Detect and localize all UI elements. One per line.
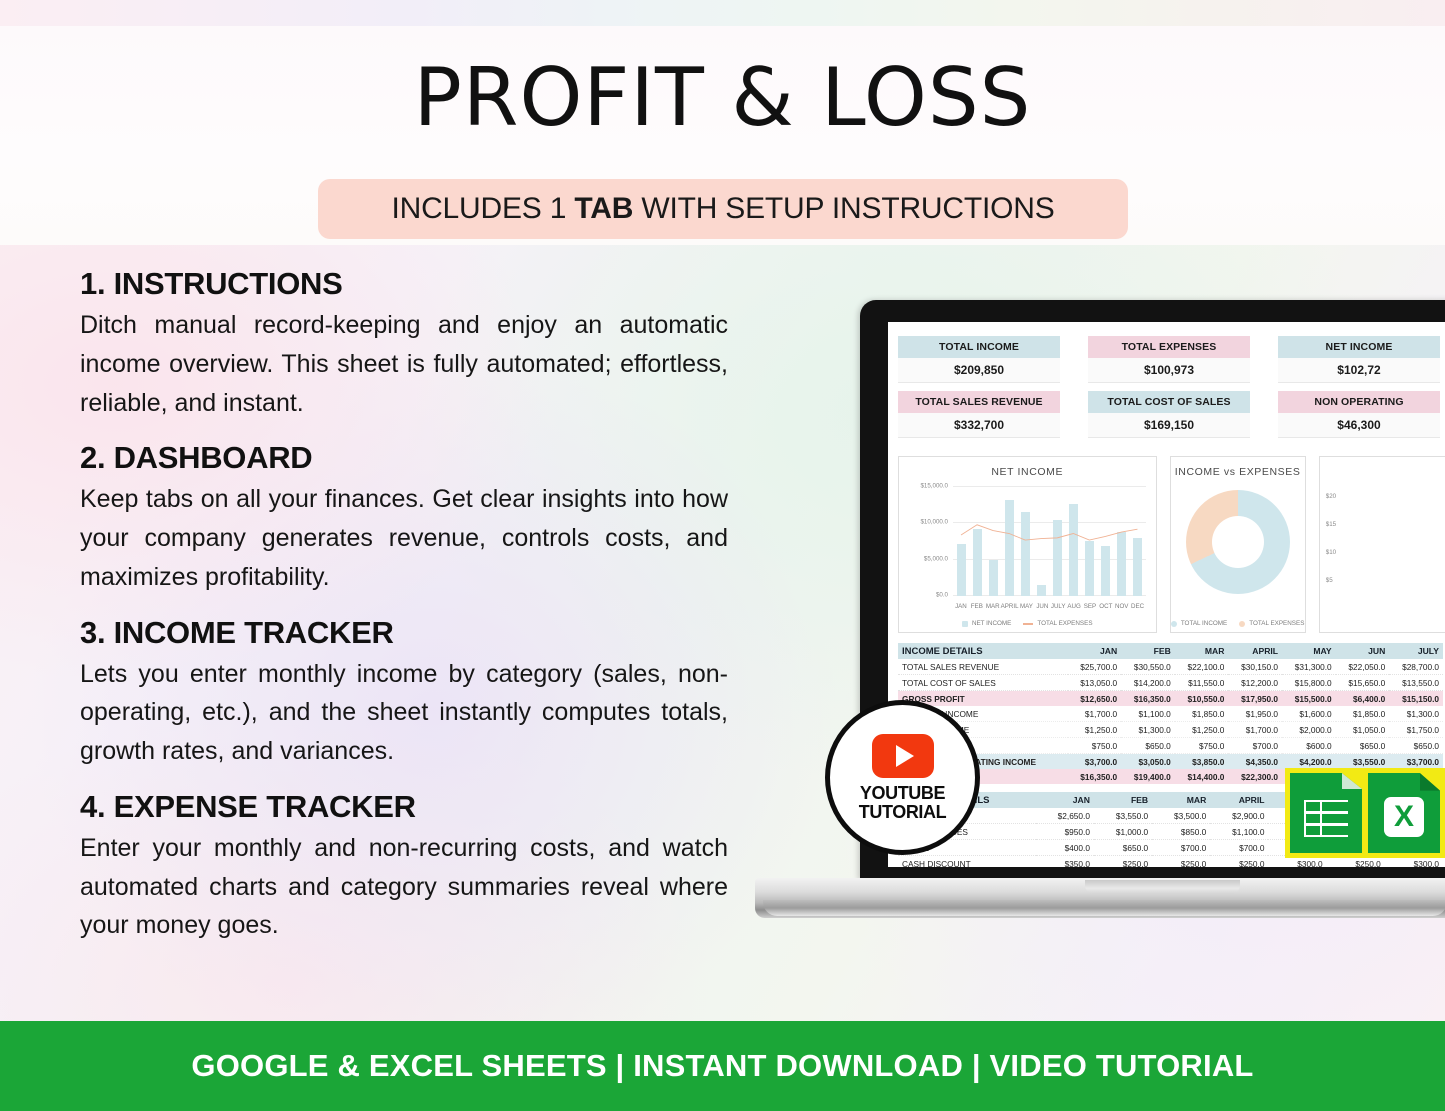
table-cell: $3,050.0: [1121, 754, 1175, 770]
table-cell: $400.0: [1036, 840, 1094, 856]
kpi-card-total-sales-revenue: TOTAL SALES REVENUE $332,700: [898, 391, 1060, 438]
table-row: TOTAL COST OF SALES$13,050.0$14,200.0$11…: [898, 675, 1443, 691]
sheets-grid-cell: [1306, 826, 1319, 835]
youtube-play-icon: [872, 734, 934, 778]
kpi-label: TOTAL COST OF SALES: [1088, 391, 1250, 413]
table-header-cell: MAR: [1175, 643, 1229, 659]
youtube-badge-text: YOUTUBE TUTORIAL: [859, 784, 946, 822]
table-cell: $350.0: [1036, 856, 1094, 868]
section-heading: 1. INSTRUCTIONS: [80, 266, 728, 302]
table-cell: $22,050.0: [1336, 659, 1390, 675]
chart-title: INCOME vs EXPENSES: [1171, 466, 1305, 478]
chart-net-income: NET INCOME $0.0$5,000.0$10,000.0$15,000.…: [898, 456, 1157, 633]
table-header-cell: MAR: [1152, 792, 1210, 808]
chart-x-tick: MAY: [1019, 603, 1035, 610]
table-row: RENTAL INCOME$1,250.0$1,300.0$1,250.0$1,…: [898, 722, 1443, 738]
table-header-cell: FEB: [1121, 643, 1175, 659]
chart-y-tick: $5,000.0: [924, 555, 948, 562]
chart-title: NET INCOME: [899, 466, 1156, 478]
kpi-card-non-operating: NON OPERATING $46,300: [1278, 391, 1440, 438]
table-cell: $750.0: [1068, 738, 1122, 754]
table-cell: $22,300.0: [1228, 769, 1282, 784]
table-cell: $31,300.0: [1282, 659, 1336, 675]
table-header-cell: JULY: [1389, 643, 1443, 659]
legend-label: NET INCOME: [972, 620, 1011, 627]
excel-letter-icon: X: [1384, 797, 1424, 837]
table-cell: $28,700.0: [1389, 659, 1443, 675]
feature-section-income-tracker: 3. INCOME TRACKER Lets you enter monthly…: [80, 615, 728, 771]
footer-text: GOOGLE & EXCEL SHEETS | INSTANT DOWNLOAD…: [191, 1048, 1253, 1084]
table-cell: $1,850.0: [1175, 706, 1229, 722]
subtitle-text: INCLUDES 1 TAB WITH SETUP INSTRUCTIONS: [391, 192, 1054, 226]
table-cell: $3,550.0: [1094, 808, 1152, 824]
legend-label: TOTAL EXPENSES: [1249, 620, 1304, 627]
page-title: PROFIT & LOSS: [0, 58, 1445, 138]
kpi-value: $169,150: [1088, 413, 1250, 438]
chart-y-tick: $0.0: [936, 592, 948, 599]
legend-swatch-icon: [1239, 621, 1245, 627]
kpi-value: $332,700: [898, 413, 1060, 438]
table-cell: $700.0: [1152, 840, 1210, 856]
subtitle-suffix: WITH SETUP INSTRUCTIONS: [633, 192, 1054, 225]
income-details-table: INCOME DETAILSJANFEBMARAPRILMAYJUNJULY T…: [898, 643, 1443, 784]
table-cell: $6,400.0: [1336, 691, 1390, 707]
table-cell: $15,150.0: [1389, 691, 1443, 707]
table-header-cell: JUN: [1336, 643, 1390, 659]
chart-x-axis-labels: JANFEBMARAPRILMAYJUNJULYAUGSEPOCTNOVDEC: [953, 603, 1146, 610]
kpi-value: $102,72: [1278, 358, 1440, 383]
section-body: Ditch manual record-keeping and enjoy an…: [80, 306, 728, 422]
table-cell: $19,400.0: [1121, 769, 1175, 784]
table-cell: TOTAL COST OF SALES: [898, 675, 1068, 691]
table-cell: CASH DISCOUNT: [898, 856, 1036, 868]
legend-label: TOTAL EXPENSES: [1037, 620, 1092, 627]
table-cell: $16,350.0: [1121, 691, 1175, 707]
kpi-card-total-income: TOTAL INCOME $209,850: [898, 336, 1060, 383]
table-cell: $11,550.0: [1175, 675, 1229, 691]
subtitle-prefix: INCLUDES 1: [391, 192, 574, 225]
feature-section-dashboard: 2. DASHBOARD Keep tabs on all your finan…: [80, 440, 728, 596]
legend-label: TOTAL INCOME: [1181, 620, 1227, 627]
sheets-grid-cell: [1322, 814, 1348, 823]
play-triangle-icon: [896, 745, 914, 767]
sheets-grid-icon: [1304, 800, 1347, 837]
table-cell: $10,550.0: [1175, 691, 1229, 707]
table-header-cell: JAN: [1036, 792, 1094, 808]
legend-line-icon: [1023, 623, 1033, 625]
kpi-card-total-cost-of-sales: TOTAL COST OF SALES $169,150: [1088, 391, 1250, 438]
table-cell: $1,950.0: [1228, 706, 1282, 722]
kpi-value: $100,973: [1088, 358, 1250, 383]
table-cell: $650.0: [1336, 738, 1390, 754]
table-cell: $30,550.0: [1121, 659, 1175, 675]
legend-item-net-income: NET INCOME: [962, 620, 1011, 627]
chart-x-tick: SEP: [1082, 603, 1098, 610]
table-row: TOTAL NON OPERATING INCOME$3,700.0$3,050…: [898, 754, 1443, 770]
feature-section-expense-tracker: 4. EXPENSE TRACKER Enter your monthly an…: [80, 789, 728, 945]
chart-legend: NET INCOME TOTAL EXPENSES: [899, 620, 1156, 627]
kpi-card-total-expenses: TOTAL EXPENSES $100,973: [1088, 336, 1250, 383]
table-cell: $1,300.0: [1389, 706, 1443, 722]
chart-x-tick: JULY: [1050, 603, 1066, 610]
table-header-cell: APRIL: [1210, 792, 1268, 808]
table-row: GROSS PROFIT$12,650.0$16,350.0$10,550.0$…: [898, 691, 1443, 707]
kpi-label: TOTAL EXPENSES: [1088, 336, 1250, 358]
section-body: Enter your monthly and non-recurring cos…: [80, 829, 728, 945]
table-header-cell: INCOME DETAILS: [898, 643, 1068, 659]
table-cell: $15,500.0: [1282, 691, 1336, 707]
kpi-label: NON OPERATING: [1278, 391, 1440, 413]
table-cell: $13,050.0: [1068, 675, 1122, 691]
table-cell: $12,650.0: [1068, 691, 1122, 707]
legend-item-total-expenses: TOTAL EXPENSES: [1239, 620, 1304, 627]
youtube-badge-line1: YOUTUBE: [859, 784, 946, 803]
feature-list: 1. INSTRUCTIONS Ditch manual record-keep…: [80, 266, 728, 957]
table-cell: $700.0: [1210, 840, 1268, 856]
kpi-grid: TOTAL INCOME $209,850 TOTAL SALES REVENU…: [898, 336, 1445, 446]
table-cell: $650.0: [1389, 738, 1443, 754]
table-cell: $250.0: [1210, 856, 1268, 868]
chart-x-tick: OCT: [1098, 603, 1114, 610]
table-body: TOTAL SALES REVENUE$25,700.0$30,550.0$22…: [898, 659, 1443, 784]
chart-x-tick: JAN: [953, 603, 969, 610]
table-cell: $600.0: [1282, 738, 1336, 754]
table-cell: $1,100.0: [1210, 824, 1268, 840]
chart-y-tick: $15,000.0: [920, 483, 948, 490]
kpi-column-3: NET INCOME $102,72 NON OPERATING $46,300: [1278, 336, 1440, 446]
youtube-tutorial-badge[interactable]: YOUTUBE TUTORIAL: [825, 700, 980, 855]
table-cell: $3,700.0: [1068, 754, 1122, 770]
table-cell: $14,400.0: [1175, 769, 1229, 784]
table-cell: $1,300.0: [1121, 722, 1175, 738]
legend-swatch-icon: [1171, 621, 1177, 627]
chart-x-tick: FEB: [969, 603, 985, 610]
section-heading: 3. INCOME TRACKER: [80, 615, 728, 651]
kpi-column-2: TOTAL EXPENSES $100,973 TOTAL COST OF SA…: [1088, 336, 1250, 446]
chart-x-tick: MAR: [985, 603, 1001, 610]
table-row: OTHER INCOME$750.0$650.0$750.0$700.0$600…: [898, 738, 1443, 754]
table-header-cell: MAY: [1282, 643, 1336, 659]
table-cell: $2,650.0: [1036, 808, 1094, 824]
table-cell: $3,700.0: [1389, 754, 1443, 770]
table-cell: $30,150.0: [1228, 659, 1282, 675]
chart-x-tick: NOV: [1114, 603, 1130, 610]
table-cell: $650.0: [1094, 840, 1152, 856]
table-cell: TOTAL SALES REVENUE: [898, 659, 1068, 675]
excel-fold-corner-icon: [1420, 773, 1440, 791]
kpi-value: $46,300: [1278, 413, 1440, 438]
kpi-column-1: TOTAL INCOME $209,850 TOTAL SALES REVENU…: [898, 336, 1060, 446]
app-icons-group: X: [1285, 768, 1445, 858]
table-cell: $750.0: [1175, 738, 1229, 754]
table-cell: $1,850.0: [1336, 706, 1390, 722]
chart-third-cropped: $20$15$10$5: [1319, 456, 1445, 633]
table-row: TOTAL SALES REVENUE$25,700.0$30,550.0$22…: [898, 659, 1443, 675]
table-cell: $1,250.0: [1068, 722, 1122, 738]
table-cell: $2,900.0: [1210, 808, 1268, 824]
laptop-base-edge: [763, 900, 1445, 916]
chart-y-tick: $15: [1326, 521, 1336, 528]
table-cell: $15,800.0: [1282, 675, 1336, 691]
table-row: INTEREST INCOME$1,700.0$1,100.0$1,850.0$…: [898, 706, 1443, 722]
sheets-grid-cell: [1322, 802, 1348, 811]
table-cell: $15,650.0: [1336, 675, 1390, 691]
table-cell: $17,950.0: [1228, 691, 1282, 707]
chart-x-tick: APRIL: [1001, 603, 1019, 610]
table-cell: $13,550.0: [1389, 675, 1443, 691]
kpi-card-net-income: NET INCOME $102,72: [1278, 336, 1440, 383]
excel-icon: X: [1368, 773, 1440, 853]
table-cell: $3,500.0: [1152, 808, 1210, 824]
kpi-label: NET INCOME: [1278, 336, 1440, 358]
table-header-cell: APRIL: [1228, 643, 1282, 659]
table-cell: $3,850.0: [1175, 754, 1229, 770]
sheets-grid-cell: [1306, 814, 1319, 823]
table-cell: $1,700.0: [1228, 722, 1282, 738]
google-sheets-icon: [1290, 773, 1362, 853]
section-body: Lets you enter monthly income by categor…: [80, 655, 728, 771]
table-header-row: INCOME DETAILSJANFEBMARAPRILMAYJUNJULY: [898, 643, 1443, 659]
table-cell: $1,700.0: [1068, 706, 1122, 722]
footer-banner: GOOGLE & EXCEL SHEETS | INSTANT DOWNLOAD…: [0, 1021, 1445, 1111]
table-cell: $1,000.0: [1094, 824, 1152, 840]
section-body: Keep tabs on all your finances. Get clea…: [80, 480, 728, 596]
kpi-value: $209,850: [898, 358, 1060, 383]
legend-swatch-icon: [962, 621, 968, 627]
kpi-label: TOTAL SALES REVENUE: [898, 391, 1060, 413]
table-cell: $250.0: [1152, 856, 1210, 868]
chart-y-axis-labels: $20$15$10$5: [1326, 493, 1336, 605]
donut-wrapper: [1171, 483, 1305, 601]
subtitle-banner: INCLUDES 1 TAB WITH SETUP INSTRUCTIONS: [318, 179, 1128, 239]
table-header-cell: FEB: [1094, 792, 1152, 808]
table-cell: $16,350.0: [1068, 769, 1122, 784]
table-cell: $1,250.0: [1175, 722, 1229, 738]
legend-item-total-expenses: TOTAL EXPENSES: [1023, 620, 1092, 627]
table-cell: $1,750.0: [1389, 722, 1443, 738]
chart-y-tick: $10: [1326, 549, 1336, 556]
chart-income-vs-expenses: INCOME vs EXPENSES TOTAL INCOME TOTAL EX…: [1170, 456, 1306, 633]
section-heading: 2. DASHBOARD: [80, 440, 728, 476]
sheets-fold-corner-icon: [1342, 773, 1362, 789]
table-cell: $700.0: [1228, 738, 1282, 754]
table-cell: $1,100.0: [1121, 706, 1175, 722]
legend-item-total-income: TOTAL INCOME: [1171, 620, 1227, 627]
sheets-grid-cell: [1306, 802, 1319, 811]
chart-line-series: [953, 487, 1146, 596]
subtitle-bold: TAB: [574, 192, 633, 225]
table-cell: $1,600.0: [1282, 706, 1336, 722]
charts-row: NET INCOME $0.0$5,000.0$10,000.0$15,000.…: [898, 456, 1445, 633]
table-header-cell: JAN: [1068, 643, 1122, 659]
chart-x-tick: DEC: [1130, 603, 1146, 610]
table-cell: $25,700.0: [1068, 659, 1122, 675]
donut-chart: [1186, 490, 1290, 594]
table-cell: $250.0: [1094, 856, 1152, 868]
table-cell: $12,200.0: [1228, 675, 1282, 691]
table-cell: $1,050.0: [1336, 722, 1390, 738]
table-cell: $650.0: [1121, 738, 1175, 754]
chart-x-tick: JUN: [1034, 603, 1050, 610]
youtube-badge-line2: TUTORIAL: [859, 803, 946, 822]
kpi-label: TOTAL INCOME: [898, 336, 1060, 358]
background-top-strip: [0, 0, 1445, 26]
table-cell: $2,000.0: [1282, 722, 1336, 738]
section-heading: 4. EXPENSE TRACKER: [80, 789, 728, 825]
chart-y-tick: $10,000.0: [920, 519, 948, 526]
table-cell: $4,200.0: [1282, 754, 1336, 770]
table-cell: $950.0: [1036, 824, 1094, 840]
table-cell: $22,100.0: [1175, 659, 1229, 675]
chart-y-tick: $20: [1326, 493, 1336, 500]
chart-plot-area: $0.0$5,000.0$10,000.0$15,000.0: [953, 487, 1146, 596]
table-cell: $14,200.0: [1121, 675, 1175, 691]
chart-y-tick: $5: [1326, 577, 1336, 584]
laptop-base-notch: [1085, 880, 1240, 894]
chart-x-tick: AUG: [1066, 603, 1082, 610]
sheets-grid-cell: [1322, 826, 1348, 835]
table-cell: $4,350.0: [1228, 754, 1282, 770]
feature-section-instructions: 1. INSTRUCTIONS Ditch manual record-keep…: [80, 266, 728, 422]
table-cell: $850.0: [1152, 824, 1210, 840]
chart-legend: TOTAL INCOME TOTAL EXPENSES: [1171, 620, 1305, 627]
table-cell: $3,550.0: [1336, 754, 1390, 770]
